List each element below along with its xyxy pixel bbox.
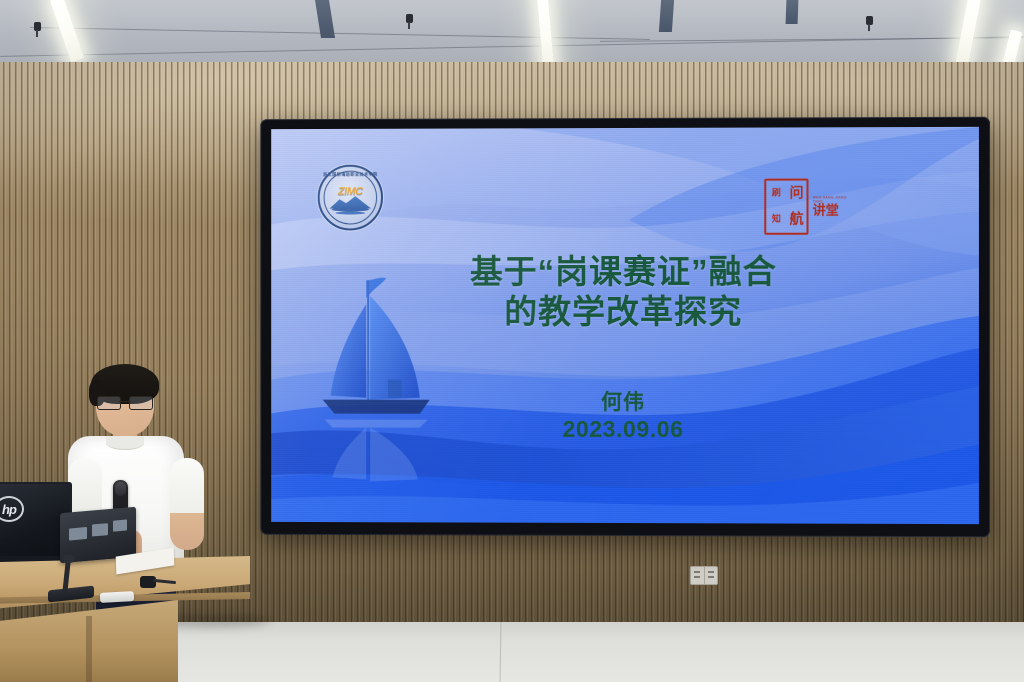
seal-side-label: WEN HANG JIANG TANG 讲堂	[813, 195, 851, 218]
screen-display-area: 浙江国际海运职业技术学院 ZIMC 刷 问 知 航 WEN HANG J	[271, 127, 979, 524]
seal-corner-mark: 刷	[766, 181, 786, 207]
emblem-wordmark: ZIMC	[320, 186, 381, 198]
slide-title-line-2: 的教学改革探究	[271, 291, 979, 331]
key-fob	[140, 576, 156, 588]
ceiling-beam	[786, 0, 799, 24]
emblem-ring-text: 浙江国际海运职业技术学院	[320, 172, 381, 178]
ceiling-light	[537, 0, 555, 70]
seal-pinyin: WEN HANG JIANG TANG	[813, 195, 851, 204]
hp-logo: hp	[0, 496, 24, 522]
slide-title-line-1: 基于“岗课赛证”融合	[271, 252, 979, 292]
seal-char-wen: 问	[786, 181, 806, 207]
presenter-right-arm	[170, 458, 204, 550]
glasses-lens-right	[129, 396, 153, 410]
floor-seam	[499, 622, 501, 682]
lecture-series-seal: 刷 问 知 航 WEN HANG JIANG TANG 讲堂	[764, 177, 850, 235]
outlet-socket-left	[691, 567, 705, 584]
keys-on-desk	[140, 576, 176, 589]
glasses-bridge	[119, 401, 131, 402]
podium-desk	[0, 556, 250, 682]
key-ring	[153, 579, 176, 584]
desk-seam	[86, 616, 92, 682]
ceiling-light	[955, 0, 981, 65]
glasses-icon	[96, 396, 154, 408]
emblem-wave-icon	[335, 211, 365, 214]
ceiling-beam	[659, 0, 674, 32]
mobile-phone[interactable]	[100, 591, 134, 603]
control-button[interactable]	[69, 527, 87, 541]
control-button[interactable]	[113, 519, 127, 531]
wall-power-outlet[interactable]	[690, 566, 718, 585]
ceiling-light	[50, 0, 85, 62]
sprinkler-icon	[866, 16, 873, 25]
presenter-collar	[106, 436, 144, 450]
glasses-lens-left	[97, 396, 121, 410]
seal-char-hang: 航	[786, 207, 806, 233]
seal-corner-mark: 知	[766, 207, 786, 233]
seal-label-text: 讲堂	[813, 205, 851, 218]
outlet-socket-right	[705, 567, 718, 584]
projection-screen[interactable]: 浙江国际海运职业技术学院 ZIMC 刷 问 知 航 WEN HANG J	[260, 117, 990, 538]
school-emblem-logo: 浙江国际海运职业技术学院 ZIMC	[318, 165, 383, 231]
sprinkler-icon	[406, 14, 413, 23]
sprinkler-icon	[34, 22, 41, 31]
presentation-slide: 浙江国际海运职业技术学院 ZIMC 刷 问 知 航 WEN HANG J	[271, 127, 979, 524]
slide-date: 2023.09.06	[271, 415, 979, 443]
slide-author: 何伟	[271, 386, 979, 417]
seal-square: 刷 问 知 航	[764, 179, 808, 235]
slide-title: 基于“岗课赛证”融合 的教学改革探究	[271, 252, 979, 332]
control-button[interactable]	[92, 523, 108, 536]
ceiling-cable	[30, 27, 650, 40]
lecture-hall-photo: 浙江国际海运职业技术学院 ZIMC 刷 问 知 航 WEN HANG J	[0, 0, 1024, 682]
